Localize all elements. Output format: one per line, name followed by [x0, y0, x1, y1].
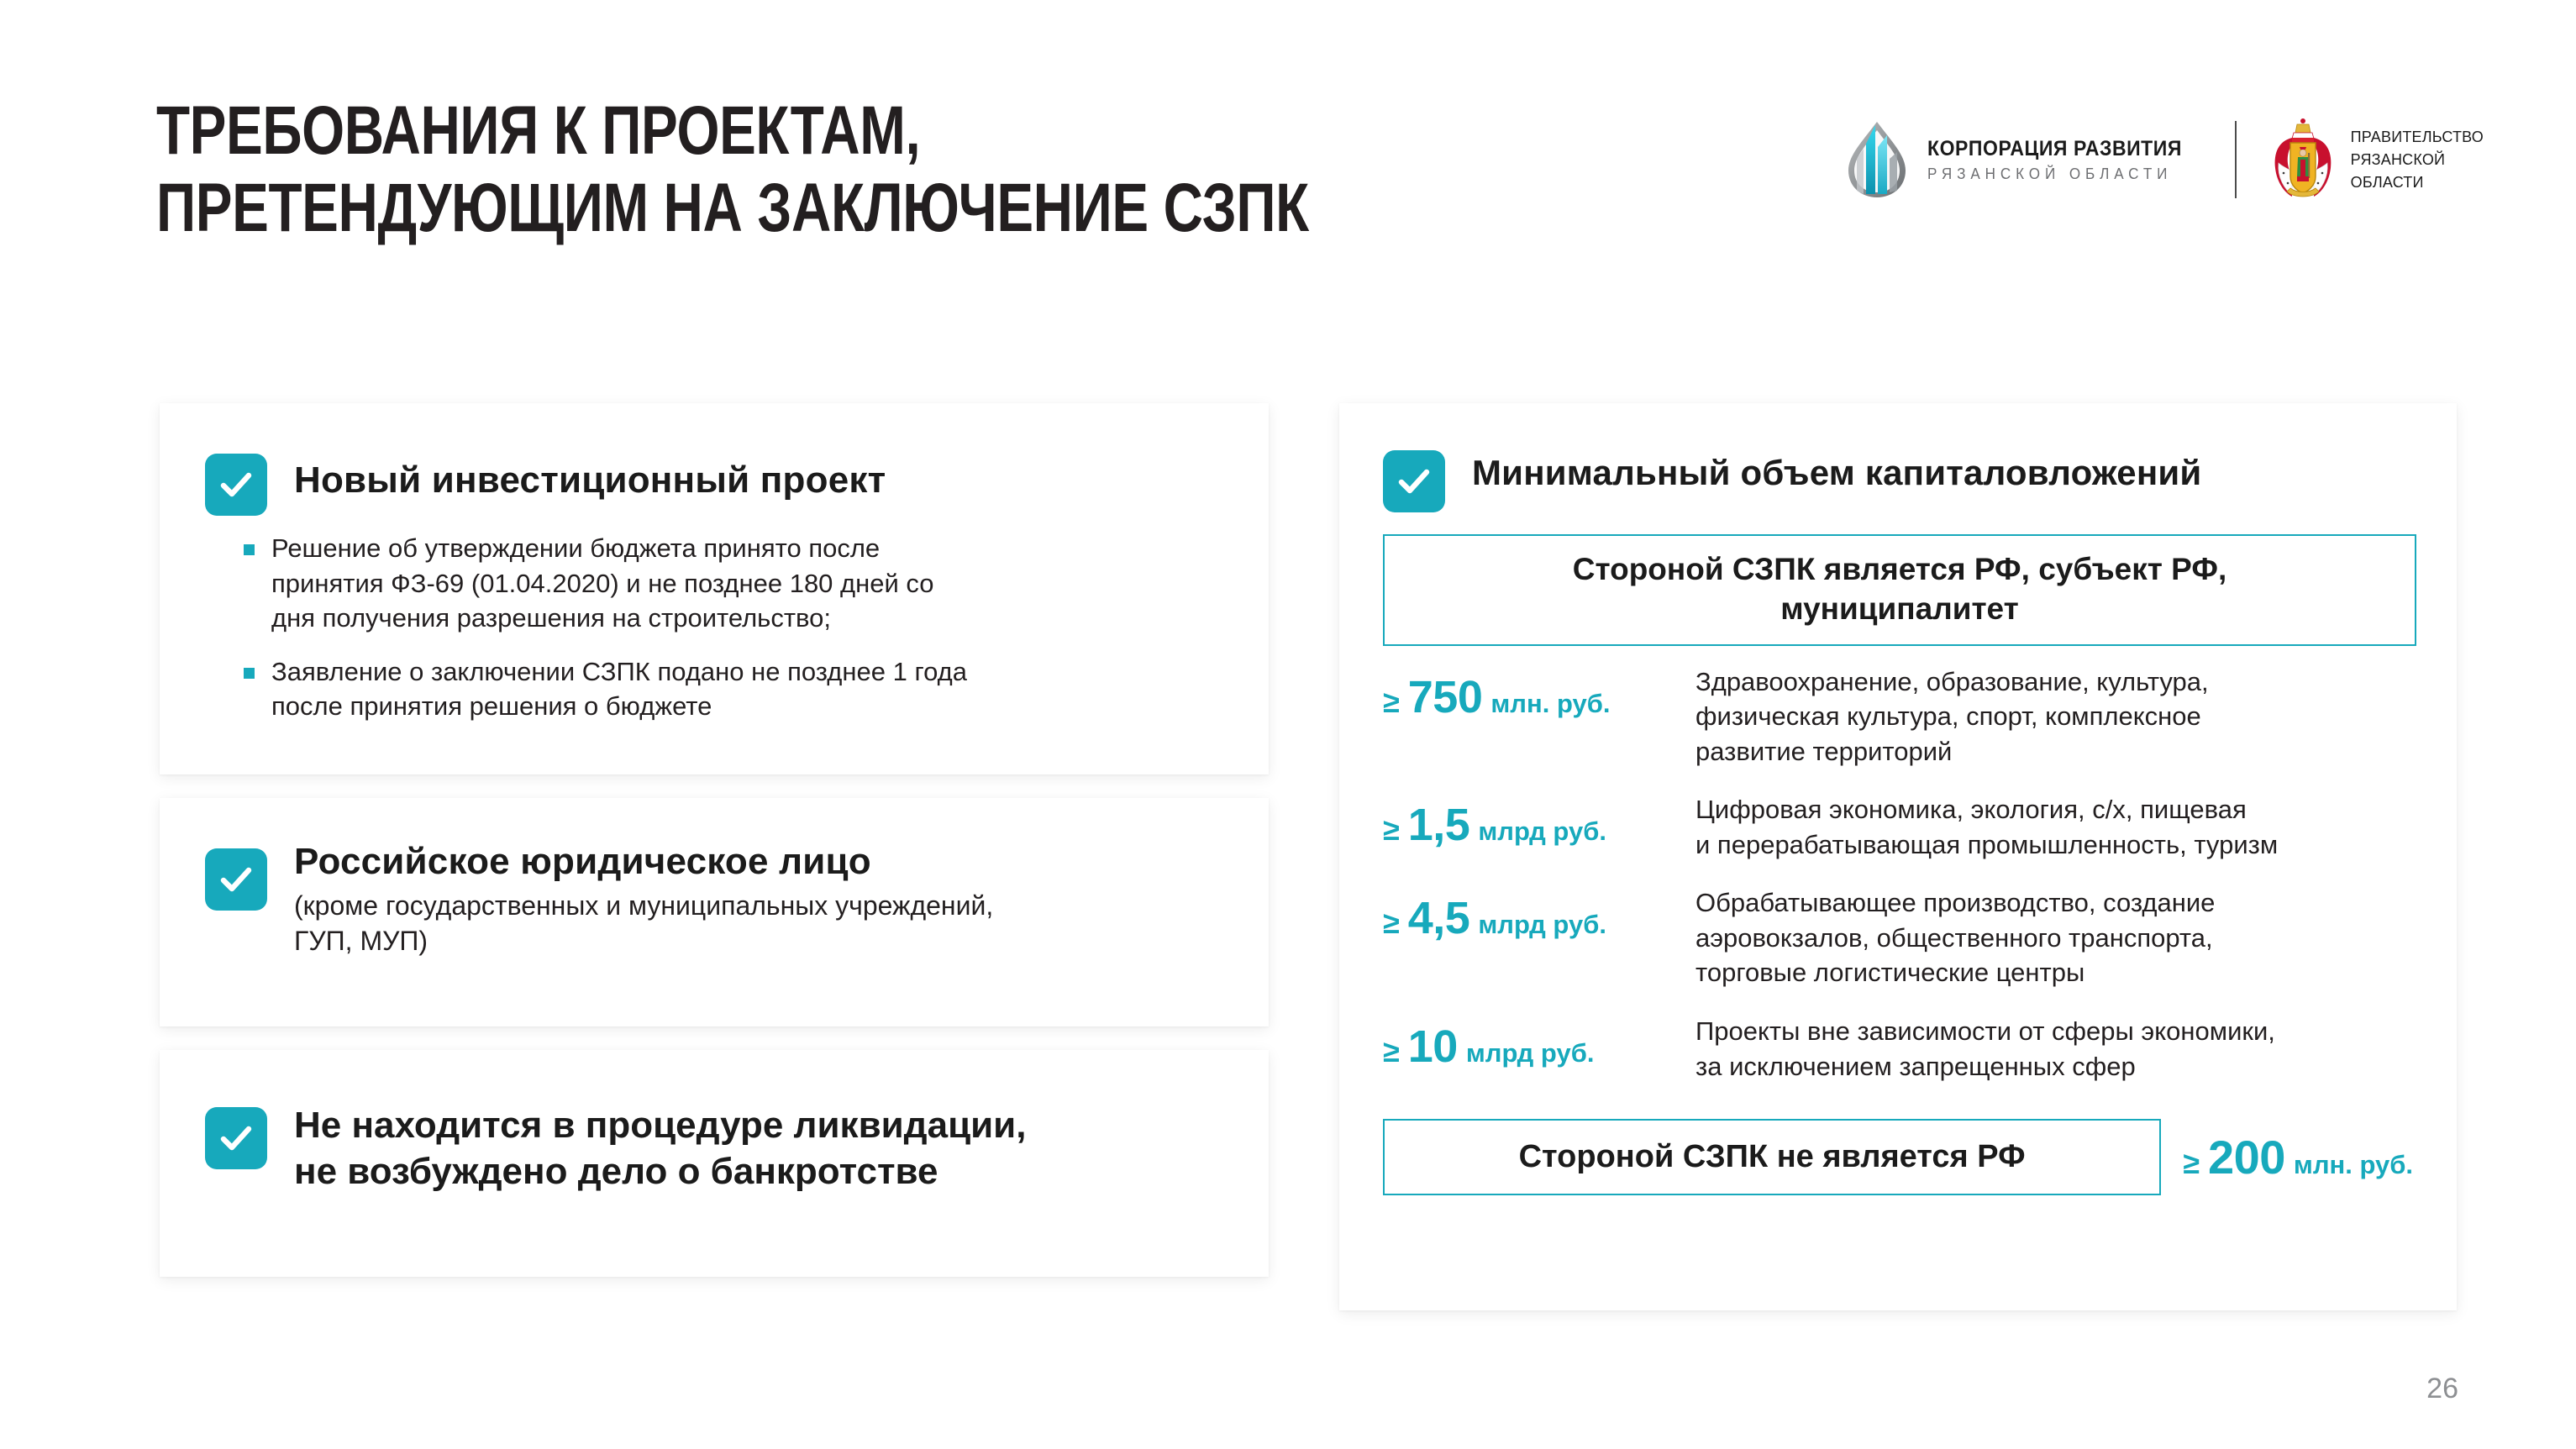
corporation-logo-line1: КОРПОРАЦИЯ РАЗВИТИЯ: [1927, 137, 2182, 161]
corporation-logo: КОРПОРАЦИЯ РАЗВИТИЯ РЯЗАНСКОЙ ОБЛАСТИ: [1838, 118, 2204, 201]
page-title: ТРЕБОВАНИЯ К ПРОЕКТАМ, ПРЕТЕНДУЮЩИМ НА З…: [156, 92, 1433, 247]
checkmark-icon: [205, 1107, 267, 1169]
building-drop-emblem-icon: [1838, 118, 1916, 201]
bullet-square-icon: [244, 668, 255, 679]
amount-unit: млн. руб.: [2294, 1150, 2413, 1180]
card-title-block: Минимальный объем капиталовложений: [1472, 447, 2201, 494]
amount-number: 750: [1408, 671, 1483, 723]
amount-number: 200: [2208, 1130, 2285, 1184]
corporation-logo-line2: РЯЗАНСКОЙ ОБЛАСТИ: [1927, 165, 2190, 183]
amount-description: Цифровая экономика, экология, с/х, пищев…: [1695, 792, 2416, 862]
content-board: Новый инвестиционный проект Решение об у…: [0, 370, 2576, 1344]
amount-unit: млрд руб.: [1478, 816, 1606, 847]
card-title: Не находится в процедуре ликвидации, не …: [294, 1102, 1026, 1195]
table-row: ≥ 4,5 млрд руб. Обрабатывающее производс…: [1383, 885, 2416, 990]
checkmark-icon: [205, 454, 267, 516]
corporation-logo-text: КОРПОРАЦИЯ РАЗВИТИЯ РЯЗАНСКОЙ ОБЛАСТИ: [1927, 137, 2204, 183]
card-new-investment-project: Новый инвестиционный проект Решение об у…: [160, 403, 1269, 774]
table-row: ≥ 10 млрд руб. Проекты вне зависимости о…: [1383, 1014, 2416, 1084]
amount-number: 4,5: [1408, 892, 1470, 944]
amount-description: Обрабатывающее производство, создание аэ…: [1695, 885, 2416, 990]
comparator: ≥: [2183, 1146, 2200, 1181]
checkmark-icon: [1383, 450, 1445, 512]
logo-divider: [2235, 121, 2237, 198]
card-title-block: Российское юридическое лицо (кроме госуд…: [294, 835, 993, 958]
slide-root: ТРЕБОВАНИЯ К ПРОЕКТАМ, ПРЕТЕНДУЮЩИМ НА З…: [0, 0, 2576, 1449]
comparator: ≥: [1383, 812, 1400, 848]
amount-number: 1,5: [1408, 799, 1470, 851]
card-title: Российское юридическое лицо: [294, 840, 993, 885]
bullet-list: Решение об утверждении бюджета принято п…: [205, 531, 1223, 724]
amount-value: ≥ 4,5 млрд руб.: [1383, 885, 1695, 944]
list-item: Решение об утверждении бюджета принято п…: [244, 531, 1223, 636]
amount-threshold-list: ≥ 750 млн. руб. Здравоохранение, образов…: [1383, 664, 2416, 1084]
logo-bar: КОРПОРАЦИЯ РАЗВИТИЯ РЯЗАНСКОЙ ОБЛАСТИ: [1838, 116, 2484, 203]
card-title-block: Не находится в процедуре ликвидации, не …: [294, 1097, 1026, 1195]
amount-number: 10: [1408, 1021, 1458, 1073]
comparator: ≥: [1383, 1034, 1400, 1069]
card-title-block: Новый инвестиционный проект: [294, 454, 886, 503]
requirements-column: Новый инвестиционный проект Решение об у…: [160, 403, 1269, 1277]
government-logo: ПРАВИТЕЛЬСТВО РЯЗАНСКОЙ ОБЛАСТИ: [2267, 116, 2484, 203]
amount-value: ≥ 1,5 млрд руб.: [1383, 792, 1695, 851]
comparator: ≥: [1383, 906, 1400, 941]
list-item: Заявление о заключении СЗПК подано не по…: [244, 654, 1223, 724]
card-header: Российское юридическое лицо (кроме госуд…: [205, 835, 1223, 958]
card-minimum-capital-investment: Минимальный объем капиталовложений Сторо…: [1339, 403, 2457, 1310]
card-not-in-liquidation: Не находится в процедуре ликвидации, не …: [160, 1050, 1269, 1277]
card-header: Не находится в процедуре ликвидации, не …: [205, 1097, 1223, 1195]
card-header: Новый инвестиционный проект: [205, 454, 1223, 516]
card-russian-legal-entity: Российское юридическое лицо (кроме госуд…: [160, 798, 1269, 1026]
card-subtitle: (кроме государственных и муниципальных у…: [294, 888, 993, 958]
card-title: Новый инвестиционный проект: [294, 459, 886, 503]
table-row: ≥ 1,5 млрд руб. Цифровая экономика, экол…: [1383, 792, 2416, 862]
szpk-party-banner: Стороной СЗПК является РФ, субъект РФ, м…: [1383, 534, 2416, 646]
checkmark-icon: [205, 848, 267, 911]
card-title: Минимальный объем капиталовложений: [1472, 452, 2201, 494]
non-rf-party-strip: Стороной СЗПК не является РФ ≥ 200 млн. …: [1383, 1119, 2416, 1195]
page-number: 26: [2426, 1373, 2458, 1405]
bullet-text: Заявление о заключении СЗПК подано не по…: [271, 654, 967, 724]
comparator: ≥: [1383, 685, 1400, 720]
capital-investment-column: Минимальный объем капиталовложений Сторо…: [1339, 403, 2457, 1310]
amount-description: Проекты вне зависимости от сферы экономи…: [1695, 1014, 2416, 1084]
bullet-text: Решение об утверждении бюджета принято п…: [271, 531, 934, 636]
amount-description: Здравоохранение, образование, культура, …: [1695, 664, 2416, 769]
card-header: Минимальный объем капиталовложений: [1383, 447, 2416, 512]
table-row: ≥ 750 млн. руб. Здравоохранение, образов…: [1383, 664, 2416, 769]
amount-value: ≥ 10 млрд руб.: [1383, 1014, 1695, 1073]
government-logo-text: ПРАВИТЕЛЬСТВО РЯЗАНСКОЙ ОБЛАСТИ: [2351, 126, 2484, 194]
amount-value: ≥ 750 млн. руб.: [1383, 664, 1695, 723]
non-rf-amount-value: ≥ 200 млн. руб.: [2183, 1130, 2416, 1184]
ryazan-oblast-coat-of-arms-icon: [2267, 116, 2339, 203]
non-rf-party-box: Стороной СЗПК не является РФ: [1383, 1119, 2161, 1195]
amount-unit: млрд руб.: [1466, 1038, 1595, 1068]
amount-unit: млн. руб.: [1490, 689, 1610, 719]
amount-unit: млрд руб.: [1478, 910, 1606, 940]
bullet-square-icon: [244, 544, 255, 555]
